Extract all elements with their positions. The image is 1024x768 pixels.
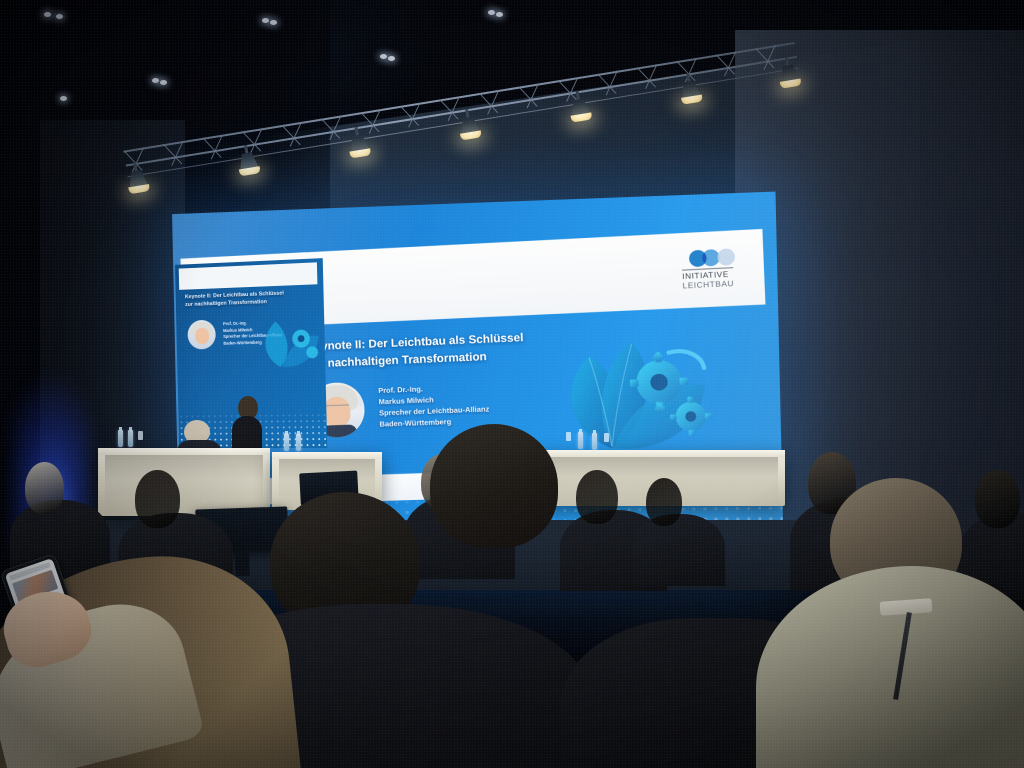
speaker-podium-left <box>98 448 270 516</box>
secondary-leaves-gears-graphic <box>256 310 322 373</box>
drinking-glass <box>566 432 571 441</box>
head <box>646 478 682 526</box>
ceiling-light-1 <box>44 12 51 17</box>
ceiling-light-7 <box>270 20 277 25</box>
conference-hall-scene: Bundesministerium für Wirtschaft und Kli… <box>0 0 1024 768</box>
ceiling-light-6 <box>262 18 269 23</box>
head <box>25 462 64 514</box>
secondary-header-band <box>179 262 318 290</box>
water-bottle <box>284 434 289 451</box>
secondary-title: Keynote II: Der Leichtbau als Schlüssel … <box>185 289 311 310</box>
water-bottle <box>118 430 123 447</box>
head <box>135 470 180 528</box>
water-bottle <box>592 433 597 450</box>
audience-head-center-back <box>430 424 558 548</box>
initiative-line-2: LEICHTBAU <box>682 279 734 291</box>
water-bottle <box>296 434 301 451</box>
head <box>576 470 618 524</box>
water-bottle <box>128 430 133 447</box>
water-bottle <box>578 432 583 449</box>
drinking-glass <box>604 433 609 442</box>
shoulders <box>632 514 725 586</box>
initiative-leichtbau-logo: INITIATIVE LEICHTBAU <box>681 248 743 291</box>
ceiling-light-3 <box>60 96 67 101</box>
speaker-block: Prof. Dr.-Ing. Markus Milwich Sprecher d… <box>308 377 490 439</box>
initiative-dots-icon <box>689 248 742 267</box>
ceiling-light-2 <box>56 14 63 19</box>
head <box>975 470 1020 528</box>
secondary-speaker-portrait <box>187 320 216 350</box>
drinking-glass <box>138 431 143 440</box>
